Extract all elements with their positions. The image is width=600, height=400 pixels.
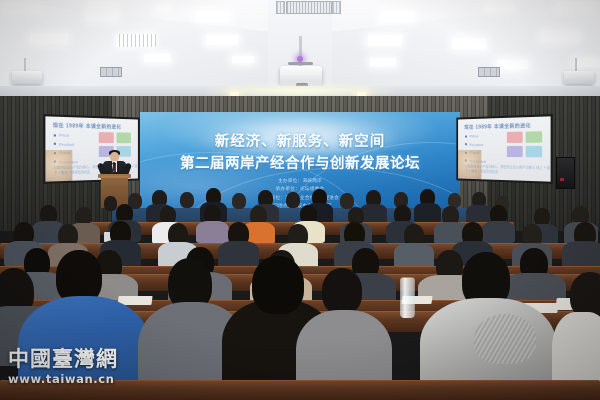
audience-area xyxy=(0,0,600,400)
audience-body xyxy=(196,221,229,243)
audience-body xyxy=(482,221,515,243)
audience-body xyxy=(218,241,259,268)
hoodie-hood xyxy=(474,314,536,364)
audience-body xyxy=(360,204,387,223)
water-bottle[interactable] xyxy=(400,278,415,319)
audience-head xyxy=(286,192,300,208)
audience-head xyxy=(180,192,194,208)
audience-body xyxy=(562,241,600,268)
audience-body xyxy=(414,203,441,223)
audience-head-foreground xyxy=(322,268,362,314)
audience-head-foreground xyxy=(252,256,304,314)
audience-head xyxy=(104,196,117,211)
audience-head xyxy=(232,193,246,209)
conference-hall-photograph: 新经济、新服务、新空间 第二届两岸产经合作与创新发展论坛 主办单位：海峡两岸承办… xyxy=(0,0,600,400)
audience-body xyxy=(466,205,492,223)
seat-back-row-front xyxy=(0,380,600,400)
